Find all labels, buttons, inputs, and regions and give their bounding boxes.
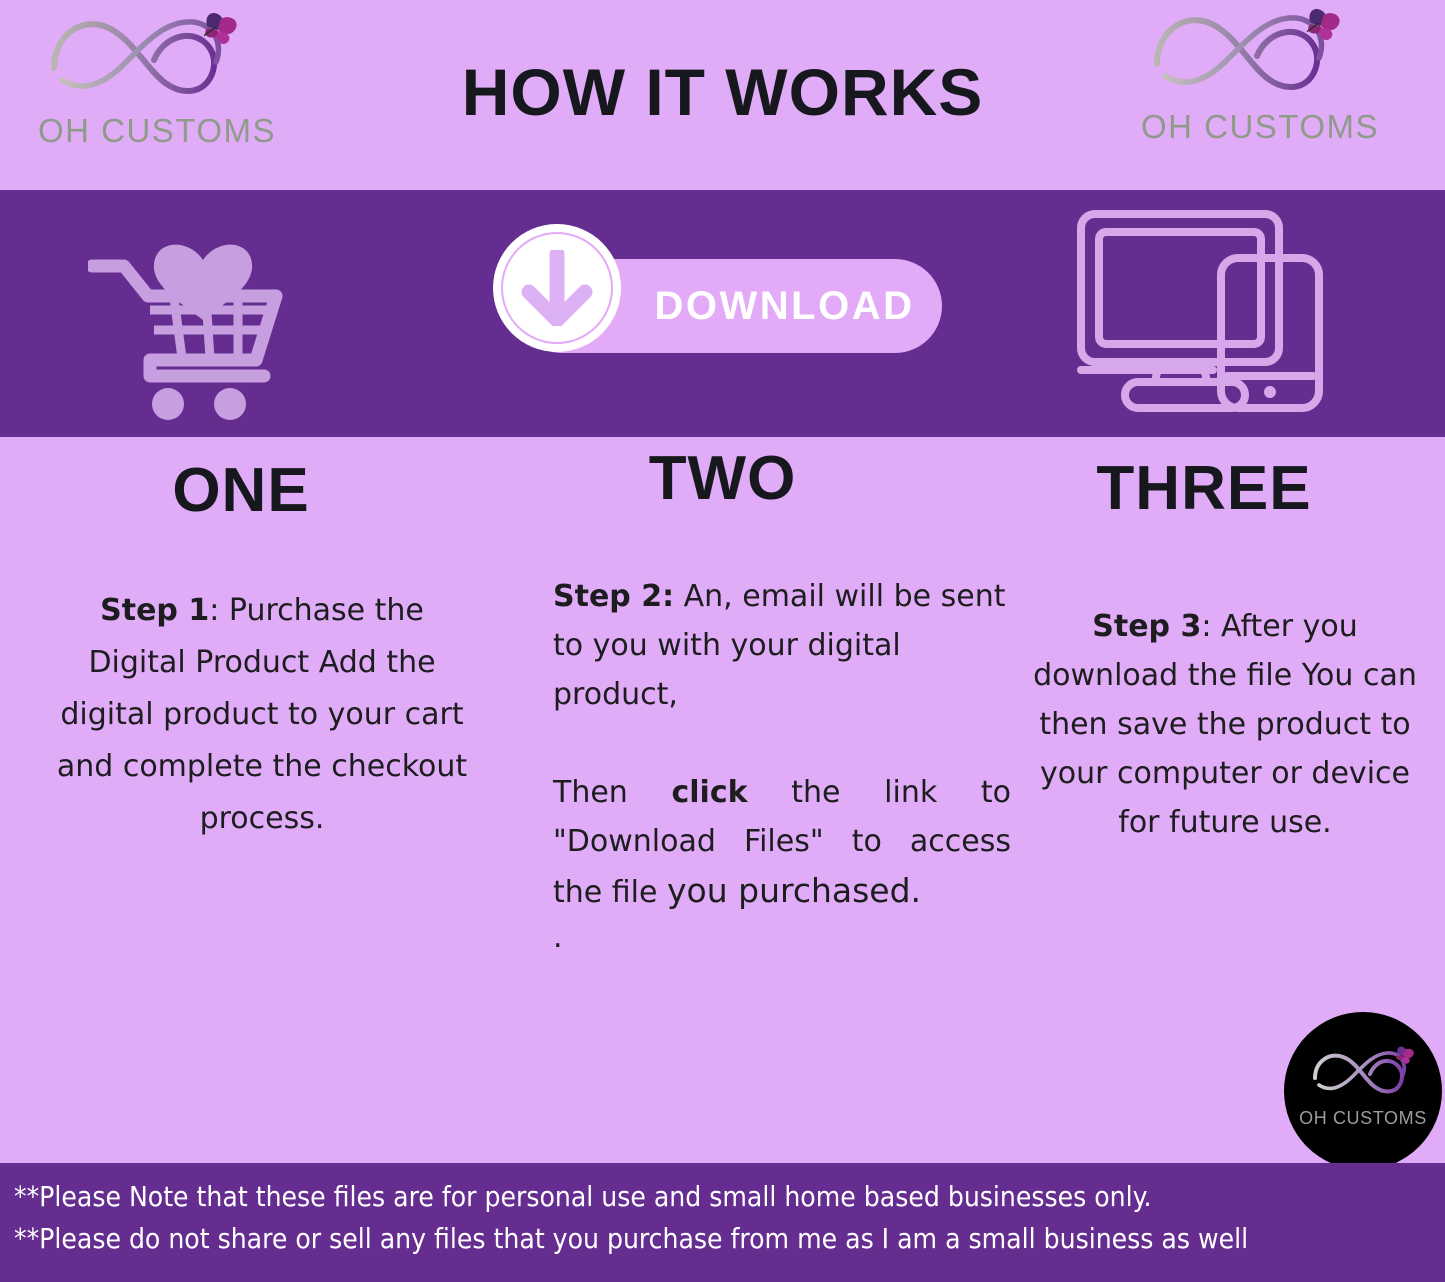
- infinity-butterfly-logo-icon: [1135, 4, 1385, 114]
- step-heading-one: ONE: [0, 455, 482, 526]
- step-two-paragraph-two: Then click the link to "Download Files" …: [553, 768, 1011, 959]
- step-two-click-emphasis: click: [671, 775, 747, 810]
- badge-wordmark: OH CUSTOMS: [1284, 1108, 1442, 1129]
- footer-note-line-2: **Please do not share or sell any files …: [14, 1222, 1439, 1255]
- icon-band: DOWNLOAD: [0, 190, 1445, 437]
- step-two-paragraph-one: Step 2: An, email will be sent to you wi…: [553, 572, 1011, 719]
- shopping-cart-heart-icon: [88, 198, 318, 430]
- step-three-label: Step 3: [1092, 609, 1201, 644]
- step-one-text: Purchase the Digital Product Add the dig…: [57, 593, 467, 836]
- footer-note-band: **Please Note that these files are for p…: [0, 1163, 1445, 1282]
- band-column-one: [0, 190, 482, 437]
- download-circle-icon[interactable]: [493, 224, 621, 352]
- download-arrow-icon: [519, 250, 595, 326]
- logo-top-right: OH CUSTOMS: [1135, 4, 1385, 164]
- logo-wordmark: OH CUSTOMS: [1135, 108, 1385, 146]
- step-heading-two: TWO: [482, 443, 963, 514]
- monitor-and-phone-icon: [1063, 200, 1353, 425]
- step-three-text: After you download the file You can then…: [1033, 609, 1417, 840]
- logo-badge-bottom-right: OH CUSTOMS: [1284, 1012, 1442, 1170]
- step-two-pre: Then: [553, 775, 671, 810]
- step-two-separator: [674, 579, 684, 614]
- footer-note-line-1: **Please Note that these files are for p…: [14, 1180, 1439, 1213]
- step-two-label: Step 2:: [553, 579, 674, 614]
- step-two-purchased-emphasis: you purchased.: [667, 871, 921, 910]
- band-column-three: [963, 190, 1445, 437]
- step-heading-three: THREE: [963, 453, 1445, 524]
- infographic-canvas: OH CUSTOMS HOW IT WORKS OH CUSTOMS: [0, 0, 1445, 1282]
- step-body-three: Step 3: After you download the file You …: [1030, 602, 1420, 847]
- step-two-trailing-period: .: [553, 917, 1011, 959]
- step-body-two: Step 2: An, email will be sent to you wi…: [553, 572, 1011, 959]
- step-body-one: Step 1: Purchase the Digital Product Add…: [52, 585, 472, 845]
- step-three-separator: :: [1201, 609, 1221, 644]
- header: OH CUSTOMS HOW IT WORKS OH CUSTOMS: [0, 0, 1445, 190]
- band-column-two: DOWNLOAD: [482, 190, 963, 437]
- step-one-separator: :: [209, 593, 229, 628]
- infinity-butterfly-badge-icon: [1306, 1046, 1422, 1108]
- step-one-label: Step 1: [100, 593, 209, 628]
